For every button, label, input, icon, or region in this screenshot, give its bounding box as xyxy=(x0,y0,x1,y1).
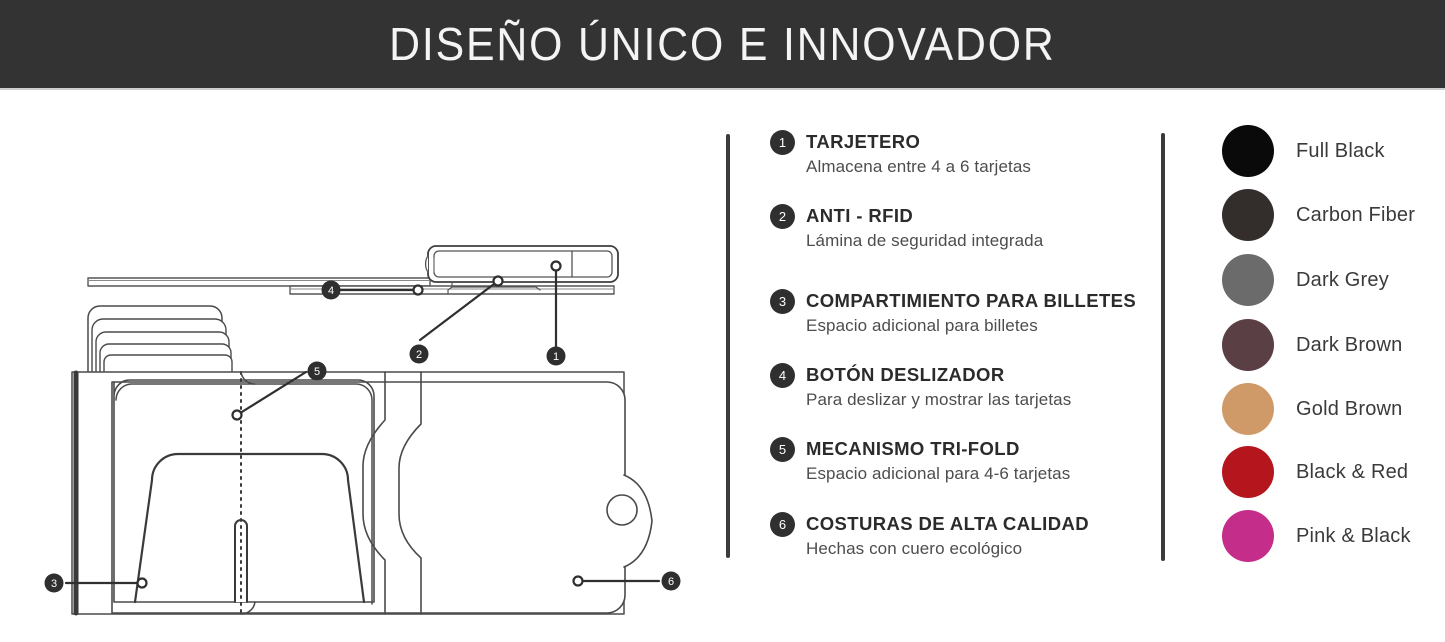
color-option-black-and-red[interactable]: Black & Red xyxy=(1222,445,1408,499)
header-banner: DISEÑO ÚNICO E INNOVADOR xyxy=(0,0,1445,88)
color-option-full-black[interactable]: Full Black xyxy=(1222,124,1385,178)
main-content: 1 2 3 4 5 xyxy=(0,90,1445,642)
color-swatch-icon xyxy=(1222,510,1274,562)
color-label-gold-brown: Gold Brown xyxy=(1296,398,1403,421)
color-swatch-icon xyxy=(1222,125,1274,177)
color-options-list: Full Black Carbon Fiber Dark Grey Dark B… xyxy=(1222,90,1445,642)
color-label-dark-brown: Dark Brown xyxy=(1296,334,1402,357)
diagram-callout-4: 4 xyxy=(322,281,341,300)
feature-badge-6: 6 xyxy=(770,512,795,537)
wallet-body-icon xyxy=(72,372,652,614)
endpoint-4 xyxy=(414,286,423,295)
svg-text:4: 4 xyxy=(328,285,334,297)
diagram-callout-3: 3 xyxy=(45,574,64,593)
diagram-callout-2: 2 xyxy=(410,345,429,364)
feature-badge-2: 2 xyxy=(770,204,795,229)
color-label-pink-and-black: Pink & Black xyxy=(1296,525,1411,548)
svg-text:5: 5 xyxy=(314,366,320,378)
feature-desc-1: Almacena entre 4 a 6 tarjetas xyxy=(806,157,1031,177)
color-label-dark-grey: Dark Grey xyxy=(1296,269,1389,292)
color-swatch-icon xyxy=(1222,383,1274,435)
diagram-callout-5: 5 xyxy=(308,362,327,381)
endpoint-1 xyxy=(552,262,561,271)
feature-desc-5: Espacio adicional para 4-6 tarjetas xyxy=(806,464,1070,484)
feature-desc-4: Para deslizar y mostrar las tarjetas xyxy=(806,390,1071,410)
color-option-dark-grey[interactable]: Dark Grey xyxy=(1222,253,1389,307)
svg-text:3: 3 xyxy=(51,578,57,590)
color-label-full-black: Full Black xyxy=(1296,140,1385,163)
color-swatch-icon xyxy=(1222,189,1274,241)
feature-title-3: COMPARTIMIENTO PARA BILLETES xyxy=(806,290,1136,312)
wallet-diagram-svg: 1 2 3 4 5 xyxy=(0,90,716,642)
feature-desc-6: Hechas con cuero ecológico xyxy=(806,539,1022,559)
endpoint-6 xyxy=(574,577,583,586)
color-swatch-icon xyxy=(1222,319,1274,371)
endpoint-3 xyxy=(138,579,147,588)
feature-title-5: MECANISMO TRI-FOLD xyxy=(806,438,1020,460)
color-label-black-and-red: Black & Red xyxy=(1296,461,1408,484)
feature-desc-3: Espacio adicional para billetes xyxy=(806,316,1038,336)
feature-badge-4: 4 xyxy=(770,363,795,388)
svg-text:6: 6 xyxy=(668,576,674,588)
feature-title-4: BOTÓN DESLIZADOR xyxy=(806,364,1005,386)
feature-badge-5: 5 xyxy=(770,437,795,462)
color-option-gold-brown[interactable]: Gold Brown xyxy=(1222,382,1403,436)
endpoint-5 xyxy=(233,411,242,420)
feature-desc-2: Lámina de seguridad integrada xyxy=(806,231,1043,251)
features-list: 1 TARJETERO Almacena entre 4 a 6 tarjeta… xyxy=(770,90,1160,642)
page-title: DISEÑO ÚNICO E INNOVADOR xyxy=(389,17,1056,71)
feature-title-6: COSTURAS DE ALTA CALIDAD xyxy=(806,513,1089,535)
endpoint-2 xyxy=(494,277,503,286)
svg-text:1: 1 xyxy=(553,351,559,363)
divider-diagram-features xyxy=(726,134,730,558)
svg-text:2: 2 xyxy=(416,349,422,361)
feature-title-2: ANTI - RFID xyxy=(806,205,913,227)
color-option-dark-brown[interactable]: Dark Brown xyxy=(1222,318,1402,372)
feature-badge-3: 3 xyxy=(770,289,795,314)
color-option-pink-and-black[interactable]: Pink & Black xyxy=(1222,509,1411,563)
diagram-callout-1: 1 xyxy=(547,347,566,366)
divider-features-colors xyxy=(1161,133,1165,561)
color-option-carbon-fiber[interactable]: Carbon Fiber xyxy=(1222,188,1415,242)
color-swatch-icon xyxy=(1222,446,1274,498)
feature-title-1: TARJETERO xyxy=(806,131,920,153)
diagram-callout-6: 6 xyxy=(662,572,681,591)
color-label-carbon-fiber: Carbon Fiber xyxy=(1296,204,1415,227)
color-swatch-icon xyxy=(1222,254,1274,306)
wallet-diagram-panel: 1 2 3 4 5 xyxy=(0,90,716,642)
feature-badge-1: 1 xyxy=(770,130,795,155)
card-stack-icon xyxy=(88,306,232,372)
